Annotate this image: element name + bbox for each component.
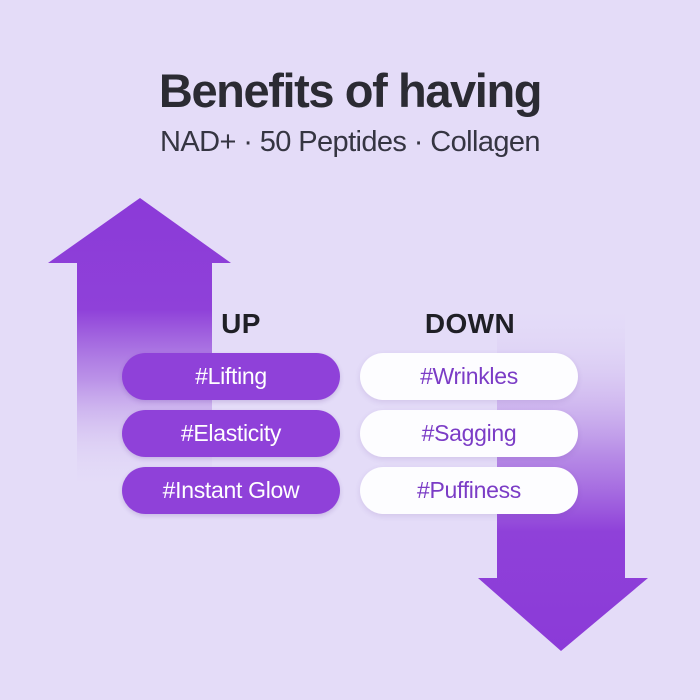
pill-down-sagging[interactable]: #Sagging: [360, 410, 578, 457]
pill-up-instant-glow[interactable]: #Instant Glow: [122, 467, 340, 514]
column-heading-up: UP: [161, 310, 321, 338]
pill-down-puffiness[interactable]: #Puffiness: [360, 467, 578, 514]
page-subtitle: NAD+ · 50 Peptides · Collagen: [0, 127, 700, 159]
header: Benefits of having NAD+ · 50 Peptides · …: [0, 66, 700, 159]
pill-down-wrinkles[interactable]: #Wrinkles: [360, 353, 578, 400]
pill-up-elasticity[interactable]: #Elasticity: [122, 410, 340, 457]
column-heading-down: DOWN: [390, 310, 550, 338]
page-title: Benefits of having: [0, 66, 700, 117]
infographic-canvas: Benefits of having NAD+ · 50 Peptides · …: [0, 0, 700, 700]
pill-up-lifting[interactable]: #Lifting: [122, 353, 340, 400]
